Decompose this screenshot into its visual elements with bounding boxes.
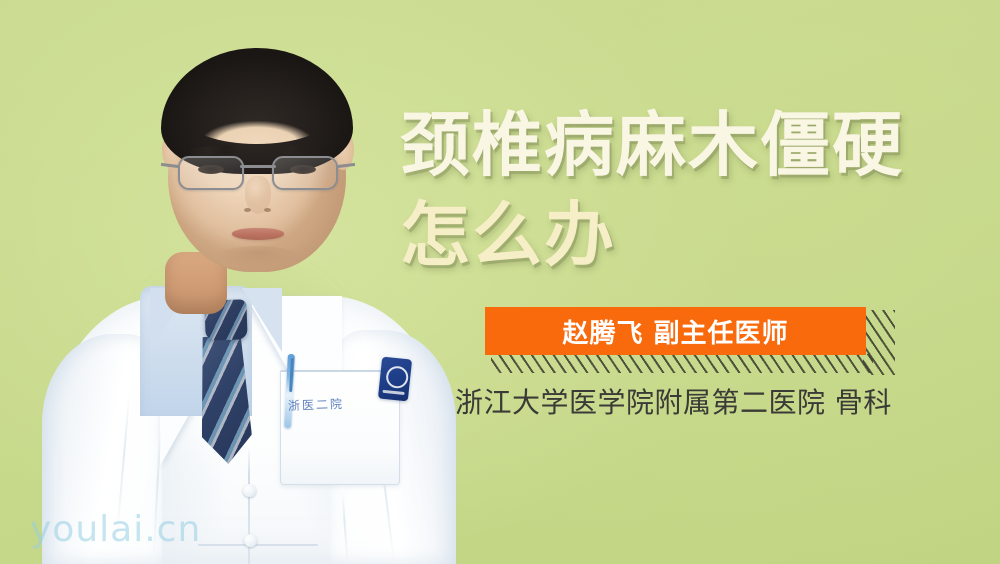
- forehead: [186, 92, 328, 144]
- doctor-name-badge: 赵腾飞 副主任医师: [485, 307, 866, 355]
- coat-button: [244, 534, 257, 547]
- hatch-pattern-bottom: [491, 354, 873, 373]
- coat-button: [243, 484, 256, 497]
- mouth: [232, 228, 284, 240]
- coat-pocket-label: 浙医二院: [288, 395, 345, 414]
- hospital-logo-patch-icon: [378, 357, 412, 402]
- eyeglass-bridge: [240, 165, 276, 168]
- shirt-collar-right: [242, 288, 282, 352]
- chin-shadow: [216, 246, 300, 268]
- headline-line-2: 怎么办: [400, 190, 980, 280]
- eyeglass-lens-left: [178, 156, 244, 190]
- doctor-credential-block: 赵腾飞 副主任医师: [485, 307, 895, 373]
- hospital-affiliation: 浙江大学医学院附属第二医院 骨科: [455, 381, 892, 421]
- coat-hem-line: [198, 544, 318, 546]
- eyeglass-lens-right: [272, 156, 338, 190]
- doctor-name-badge-text: 赵腾飞 副主任医师: [562, 313, 788, 350]
- video-cover-poster: 浙医二院 youlai.cn: [0, 0, 1000, 564]
- doctor-portrait: 浙医二院: [0, 0, 470, 564]
- nostril-right: [264, 208, 271, 212]
- headline-line-1: 颈椎病麻木僵硬: [400, 100, 980, 190]
- nostril-left: [244, 208, 251, 212]
- headline-block: 颈椎病麻木僵硬 怎么办: [400, 100, 980, 280]
